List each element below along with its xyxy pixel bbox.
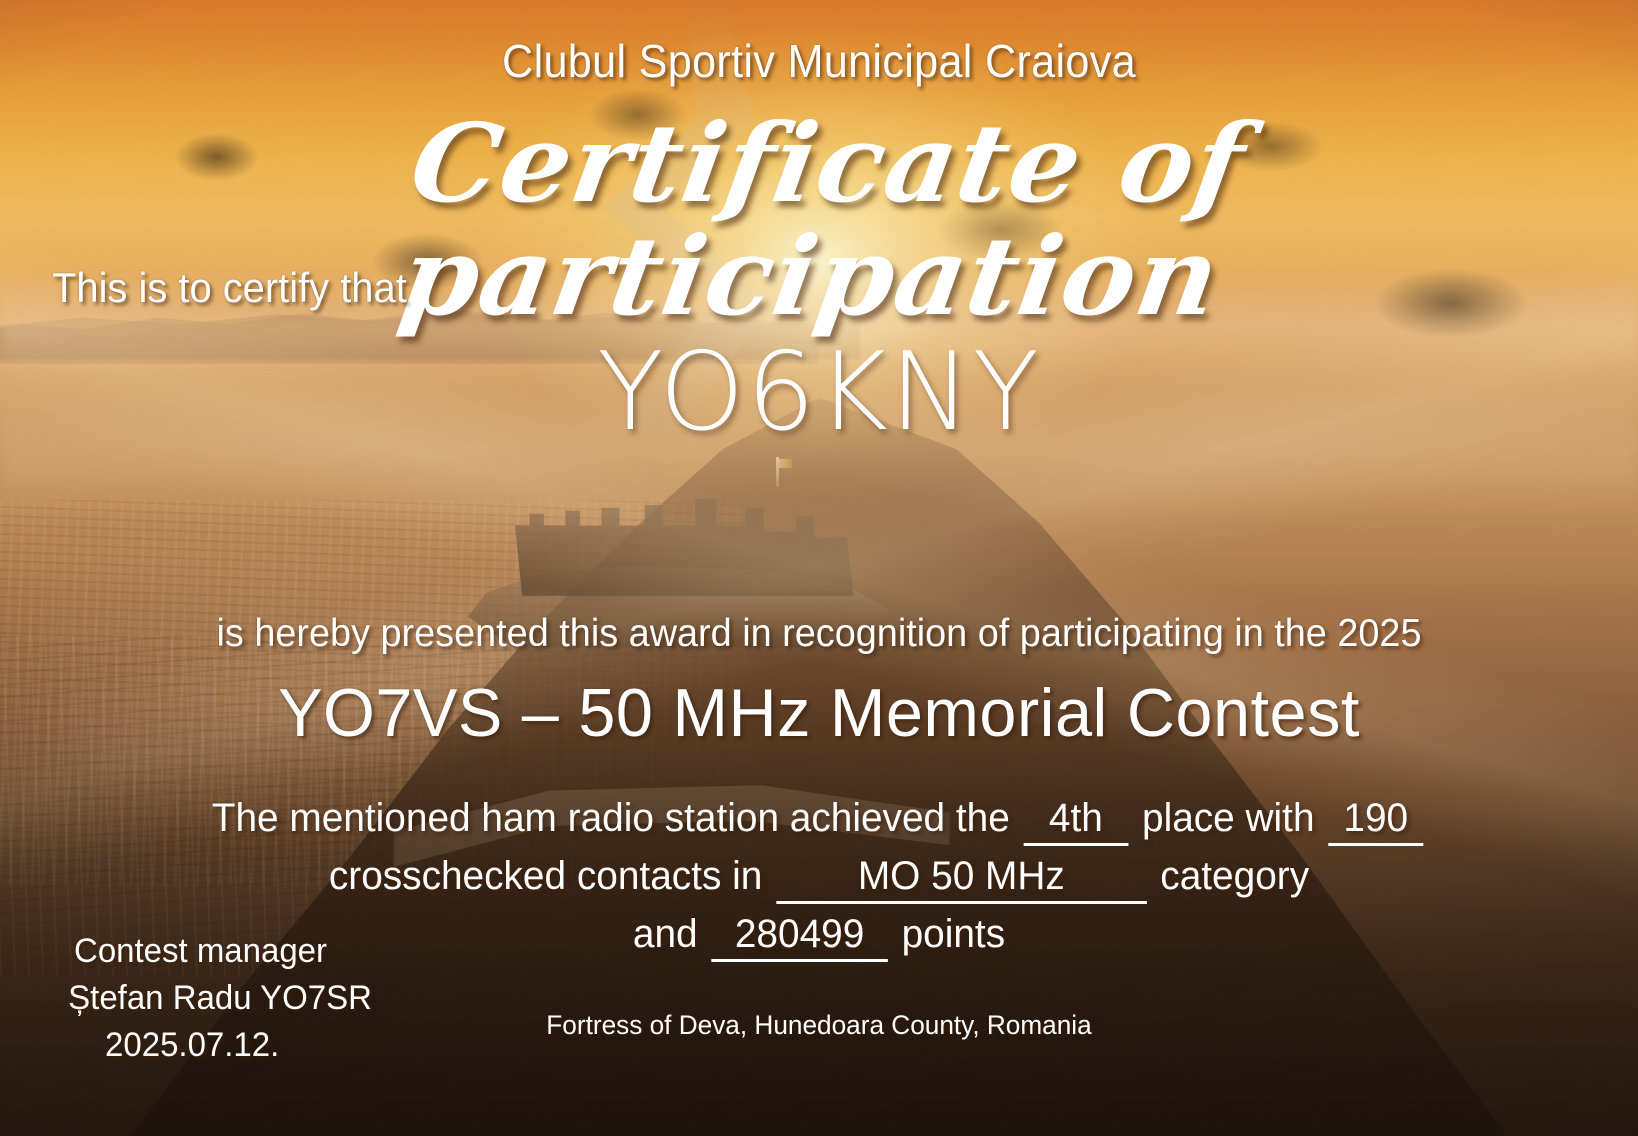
detail-points-prefix: and: [633, 912, 698, 956]
detail-line-category: crosschecked contacts in MO 50 MHz categ…: [25, 854, 1614, 904]
signature-role: Contest manager: [74, 932, 327, 970]
detail-place-prefix: The mentioned ham radio station achieved…: [212, 796, 1010, 840]
detail-place-middle: place with: [1142, 796, 1315, 840]
club-name: Clubul Sportiv Municipal Craiova: [49, 34, 1589, 88]
category-value: MO 50 MHz: [776, 854, 1147, 904]
place-value: 4th: [1024, 796, 1129, 846]
contest-name: YO7VS – 50 MHz Memorial Contest: [16, 674, 1621, 752]
recipient-callsign: YO6KNY: [0, 330, 1638, 455]
qso-count-value: 190: [1328, 796, 1423, 846]
detail-line-place: The mentioned ham radio station achieved…: [25, 796, 1614, 846]
certificate-content: Clubul Sportiv Municipal Craiova Certifi…: [0, 0, 1638, 1136]
detail-category-suffix: category: [1160, 854, 1309, 898]
signature-block: Contest manager Ștefan Radu YO7SR 2025.0…: [74, 928, 372, 1069]
points-value: 280499: [711, 912, 888, 962]
detail-category-prefix: crosschecked contacts in: [329, 854, 762, 898]
certificate-canvas: Clubul Sportiv Municipal Craiova Certifi…: [0, 0, 1638, 1136]
presented-line: is hereby presented this award in recogn…: [25, 612, 1614, 656]
detail-points-suffix: points: [902, 912, 1006, 956]
certify-lead-text: This is to certify that: [52, 264, 407, 312]
photo-caption: Fortress of Deva, Hunedoara County, Roma…: [25, 1010, 1614, 1041]
